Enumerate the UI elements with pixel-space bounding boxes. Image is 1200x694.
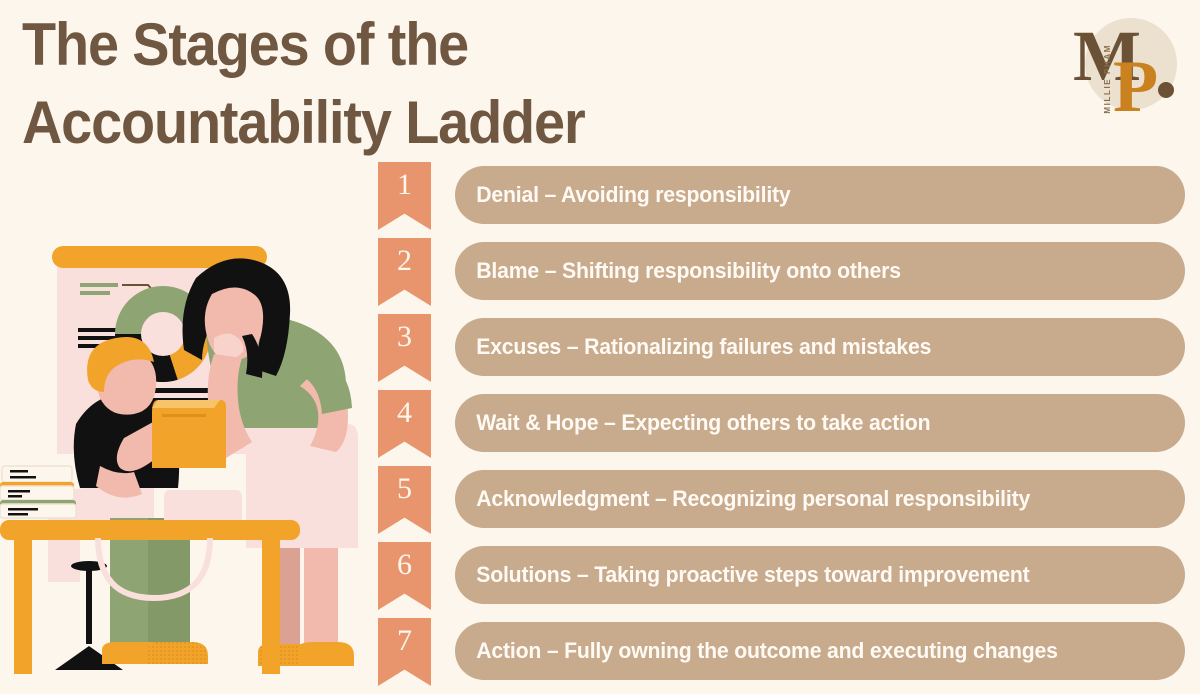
ladder-step-7[interactable]: 7 Action – Fully owning the outcome and … bbox=[0, 618, 1200, 694]
logo-brand-name: MILLIE PHAM bbox=[1103, 44, 1112, 114]
ladder-step-1[interactable]: 1 Denial – Avoiding responsibility bbox=[0, 162, 1200, 238]
step-bar-4[interactable]: Wait & Hope – Expecting others to take a… bbox=[455, 394, 1185, 452]
ladder-step-6[interactable]: 6 Solutions – Taking proactive steps tow… bbox=[0, 542, 1200, 618]
step-number-7: 7 bbox=[397, 626, 412, 656]
step-number-1: 1 bbox=[397, 170, 412, 200]
step-number-badge-6: 6 bbox=[378, 542, 431, 610]
step-number-badge-5: 5 bbox=[378, 466, 431, 534]
step-bar-6[interactable]: Solutions – Taking proactive steps towar… bbox=[455, 546, 1185, 604]
ladder-step-2[interactable]: 2 Blame – Shifting responsibility onto o… bbox=[0, 238, 1200, 314]
accountability-ladder-list: 1 Denial – Avoiding responsibility 2 Bla… bbox=[0, 162, 1200, 694]
step-number-badge-1: 1 bbox=[378, 162, 431, 230]
logo-letter-p: P bbox=[1113, 50, 1158, 124]
ladder-step-4[interactable]: 4 Wait & Hope – Expecting others to take… bbox=[0, 390, 1200, 466]
step-number-badge-4: 4 bbox=[378, 390, 431, 458]
step-label-2: Blame – Shifting responsibility onto oth… bbox=[455, 258, 901, 284]
logo-dot-icon bbox=[1158, 82, 1174, 98]
step-number-2: 2 bbox=[397, 246, 412, 276]
step-number-badge-7: 7 bbox=[378, 618, 431, 686]
step-label-4: Wait & Hope – Expecting others to take a… bbox=[455, 410, 930, 436]
ladder-step-3[interactable]: 3 Excuses – Rationalizing failures and m… bbox=[0, 314, 1200, 390]
step-number-6: 6 bbox=[397, 550, 412, 580]
step-label-7: Action – Fully owning the outcome and ex… bbox=[455, 638, 1058, 664]
brand-logo[interactable]: M P MILLIE PHAM bbox=[1055, 6, 1195, 121]
page-title: The Stages of the Accountability Ladder bbox=[22, 6, 729, 162]
step-bar-1[interactable]: Denial – Avoiding responsibility bbox=[455, 166, 1185, 224]
step-label-1: Denial – Avoiding responsibility bbox=[455, 182, 791, 208]
step-bar-5[interactable]: Acknowledgment – Recognizing personal re… bbox=[455, 470, 1185, 528]
ladder-step-5[interactable]: 5 Acknowledgment – Recognizing personal … bbox=[0, 466, 1200, 542]
step-label-6: Solutions – Taking proactive steps towar… bbox=[455, 562, 1030, 588]
step-bar-3[interactable]: Excuses – Rationalizing failures and mis… bbox=[455, 318, 1185, 376]
infographic-canvas: The Stages of the Accountability Ladder … bbox=[0, 0, 1200, 675]
step-number-badge-2: 2 bbox=[378, 238, 431, 306]
step-number-badge-3: 3 bbox=[378, 314, 431, 382]
step-number-4: 4 bbox=[397, 398, 412, 428]
step-number-5: 5 bbox=[397, 474, 412, 504]
step-bar-7[interactable]: Action – Fully owning the outcome and ex… bbox=[455, 622, 1185, 680]
step-label-5: Acknowledgment – Recognizing personal re… bbox=[455, 486, 1030, 512]
step-bar-2[interactable]: Blame – Shifting responsibility onto oth… bbox=[455, 242, 1185, 300]
step-number-3: 3 bbox=[397, 322, 412, 352]
step-label-3: Excuses – Rationalizing failures and mis… bbox=[455, 334, 931, 360]
